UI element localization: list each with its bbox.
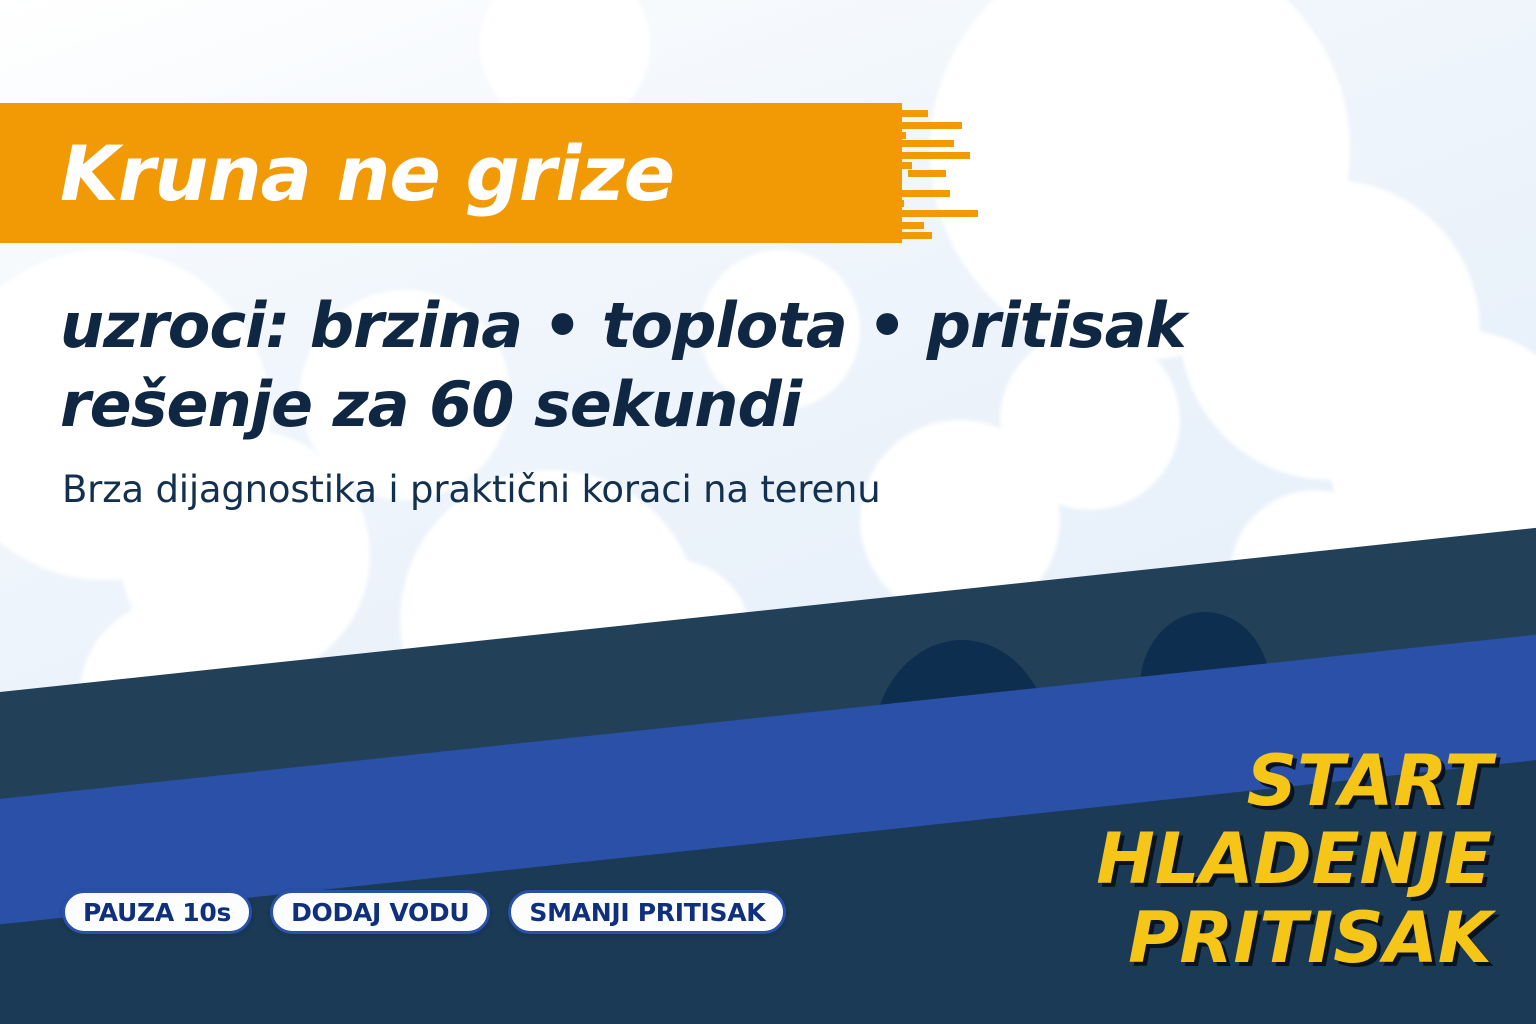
action-chip-group: PAUZA 10s DODAJ VODU SMANJI PRITISAK xyxy=(62,890,786,934)
chip-dodaj-vodu[interactable]: DODAJ VODU xyxy=(270,890,490,934)
cta-stack: START HLADENJE PRITISAK xyxy=(1096,742,1492,977)
banner-title: Kruna ne grize xyxy=(60,103,920,243)
chip-pauza[interactable]: PAUZA 10s xyxy=(62,890,252,934)
headline-block: uzroci: brzina • toplota • pritisak reše… xyxy=(60,286,1400,445)
headline-line-2: rešenje za 60 sekundi xyxy=(60,365,1400,444)
subtitle-text: Brza dijagnostika i praktični koraci na … xyxy=(62,468,881,511)
cta-line-pritisak: PRITISAK xyxy=(1096,899,1492,977)
cta-line-start: START xyxy=(1096,742,1492,820)
poster-canvas: Kruna ne grize uzroci: brzina • toplota … xyxy=(0,0,1536,1024)
cta-line-hladenje: HLADENJE xyxy=(1096,820,1492,898)
chip-smanji-pritisak[interactable]: SMANJI PRITISAK xyxy=(508,890,786,934)
headline-line-1: uzroci: brzina • toplota • pritisak xyxy=(60,286,1400,365)
